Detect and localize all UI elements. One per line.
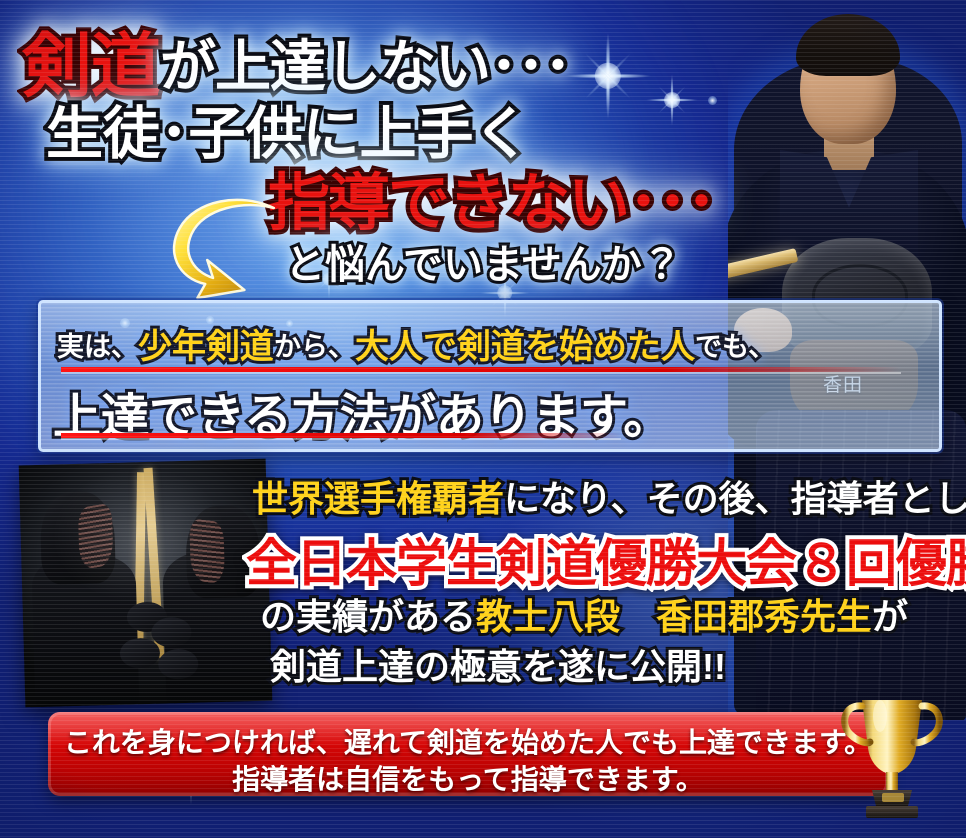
- bottom-red-banner: これを身につければ、遅れて剣道を始めた人でも上達できます。 指導者は自信をもって…: [48, 712, 888, 796]
- midcopy-line3-pre: の実績がある: [260, 596, 476, 637]
- midcopy-line3-post: が: [872, 596, 908, 637]
- gold-trophy-cup-icon: [836, 690, 948, 828]
- photo-glare: [19, 459, 273, 708]
- kendo-promo-banner: 香田 剣道が上達しない･･･ 生徒･子供に上手く 指導できない･･･ と悩んでい…: [0, 0, 966, 838]
- fact-box: 実は、少年剣道から、大人で剣道を始めた人でも、 上達できる方法があります。: [38, 300, 942, 452]
- factbox-line1-mid: から、: [274, 332, 355, 362]
- factbox-red-rule-bottom: [61, 433, 621, 438]
- factbox-line1-highlight-1: 少年剣道: [138, 328, 274, 366]
- redbar-line-1: これを身につければ、遅れて剣道を始めた人でも上達できます。: [48, 721, 888, 761]
- factbox-line1-pre: 実は、: [57, 332, 138, 362]
- midcopy-line-2-achievement: 全日本学生剣道優勝大会８回優勝: [246, 522, 966, 596]
- midcopy-line3-teacher-name: 教士八段 香田郡秀先生: [476, 596, 872, 637]
- midcopy-line-4: 剣道上達の極意を遂に公開!!: [270, 638, 726, 690]
- factbox-line1-post: でも、: [695, 332, 775, 362]
- factbox-red-rule-top: [61, 367, 901, 372]
- midcopy-line1-highlight: 世界選手権覇者: [252, 478, 504, 519]
- midcopy-line-1: 世界選手権覇者になり、その後、指導者として: [252, 470, 966, 522]
- curved-down-arrow-icon: [166, 198, 286, 302]
- headline-line-4: と悩んでいませんか？: [285, 232, 682, 290]
- factbox-line-1: 実は、少年剣道から、大人で剣道を始めた人でも、: [57, 319, 775, 368]
- midcopy-line1-rest: になり、その後、指導者として: [504, 478, 966, 519]
- headline-line-3: 指導できない･･･: [268, 152, 715, 242]
- factbox-line1-highlight-2: 大人で剣道を始めた人: [355, 328, 695, 366]
- redbar-line-2: 指導者は自信をもって指導できます。: [48, 758, 888, 796]
- midcopy-line-3: の実績がある教士八段 香田郡秀先生が: [260, 588, 908, 640]
- two-kendoka-sparring-photo: [19, 459, 273, 708]
- instructor-hair: [796, 14, 900, 76]
